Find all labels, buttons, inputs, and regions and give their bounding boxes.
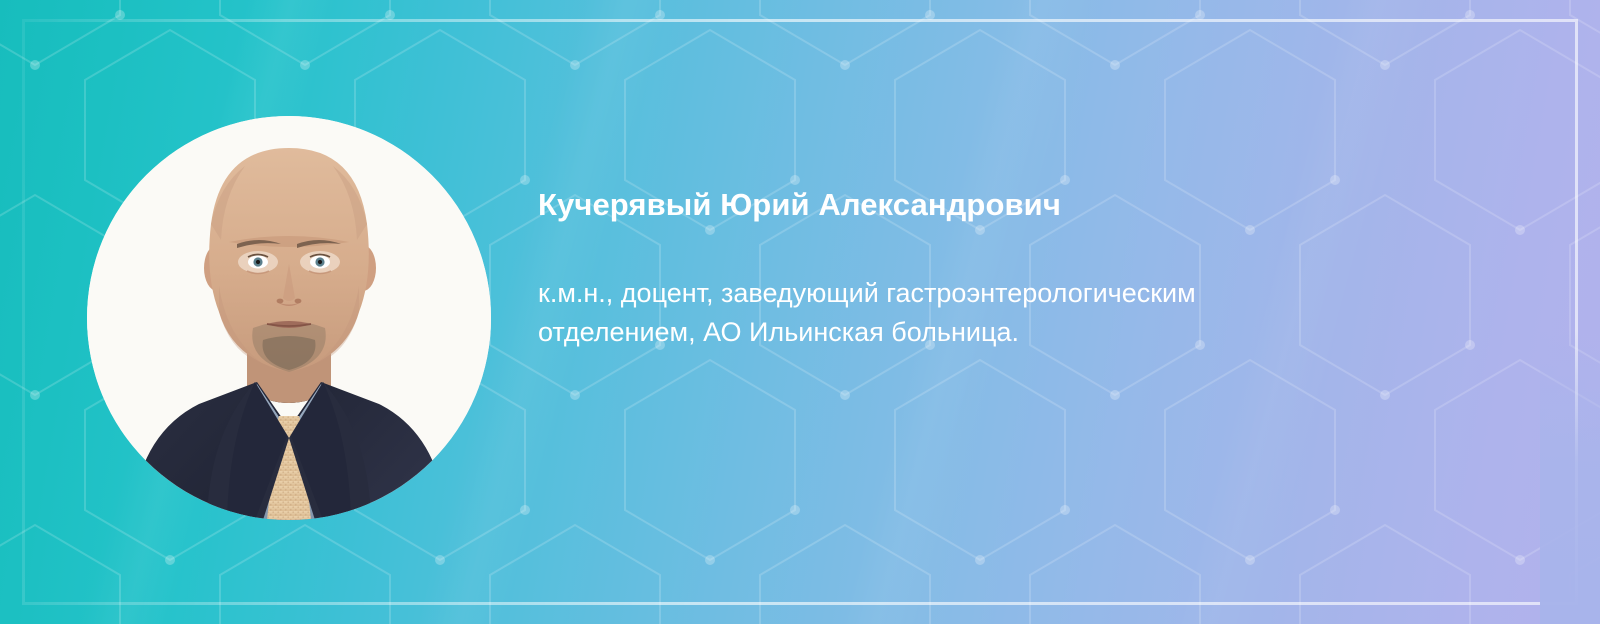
speaker-description: к.м.н., доцент, заведующий гастроэнтерол… <box>538 224 1348 352</box>
frame-right-fade <box>1540 330 1600 624</box>
speaker-portrait-photo <box>87 116 491 520</box>
speaker-banner: Кучерявый Юрий Александрович к.м.н., доц… <box>0 0 1600 624</box>
speaker-text-block: Кучерявый Юрий Александрович к.м.н., доц… <box>538 186 1478 352</box>
speaker-name: Кучерявый Юрий Александрович <box>538 186 1478 224</box>
